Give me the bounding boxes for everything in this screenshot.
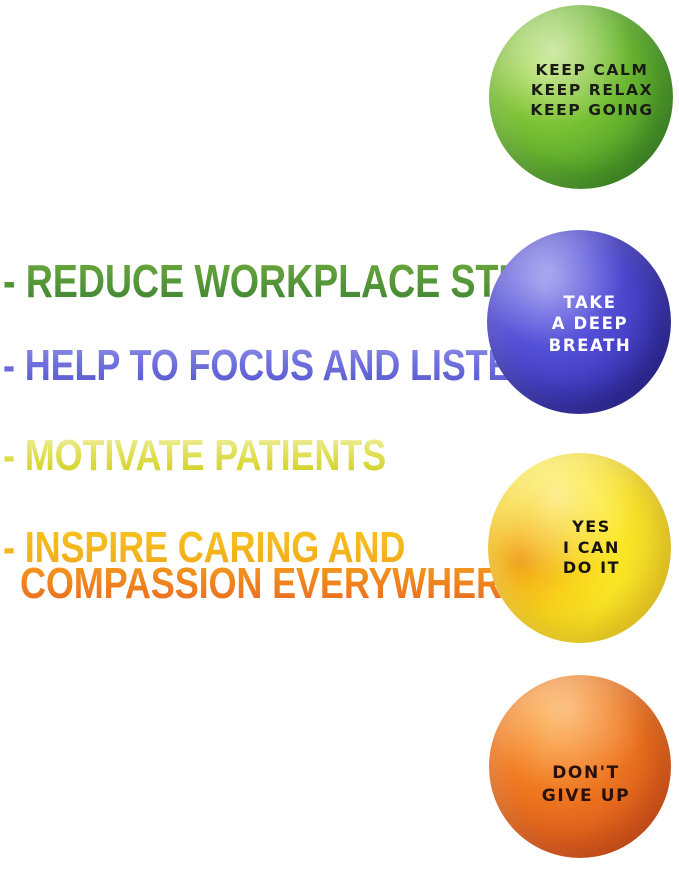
stress-ball-orange-text: DON'T GIVE UP <box>542 762 630 806</box>
stress-ball-blue: TAKE A DEEP BREATH <box>487 230 671 414</box>
stress-ball-yellow: YES I CAN DO IT <box>488 453 671 643</box>
stress-ball-green: KEEP CALM KEEP RELAX KEEP GOING <box>489 5 673 189</box>
stress-ball-green-text: KEEP CALM KEEP RELAX KEEP GOING <box>530 60 653 120</box>
benefit-item-inspire-caring-line-2: COMPASSION EVERYWHERE <box>20 562 526 606</box>
benefits-list: - REDUCE WORKPLACE STRESS - HELP TO FOCU… <box>0 0 470 869</box>
benefit-item-motivate-patients: - MOTIVATE PATIENTS <box>3 434 386 478</box>
stress-ball-orange: DON'T GIVE UP <box>489 675 671 858</box>
stress-ball-product-graphic: { "benefits": { "bullet_prefix": "-", "i… <box>0 0 679 869</box>
benefit-item-help-to-focus-and-listen: - HELP TO FOCUS AND LISTEN <box>3 344 537 388</box>
stress-ball-blue-text: TAKE A DEEP BREATH <box>549 292 632 356</box>
stress-ball-yellow-text: YES I CAN DO IT <box>563 517 620 579</box>
